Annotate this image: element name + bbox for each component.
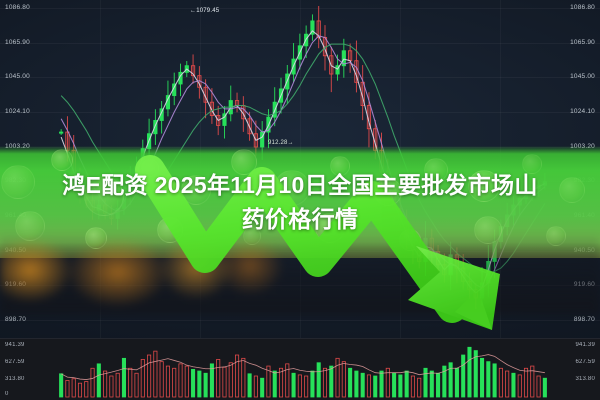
volume-bar	[110, 376, 113, 397]
volume-bar	[191, 369, 194, 397]
volume-bar	[355, 371, 358, 397]
price-tick-label: 1086.80	[5, 4, 30, 11]
volume-bar	[348, 368, 351, 397]
volume-bar	[411, 376, 414, 397]
price-tick-label: 919.60	[5, 281, 26, 288]
volume-bar	[330, 366, 333, 397]
volume-bar	[242, 358, 245, 397]
candlestick-plot	[0, 0, 600, 338]
volume-bar	[380, 371, 383, 397]
volume-bar	[248, 374, 251, 397]
price-tick-label: 1086.80	[570, 4, 595, 11]
volume-bar	[323, 368, 326, 397]
volume-tick-label: 313.80	[575, 376, 595, 382]
price-tick-label: 1045.00	[5, 73, 30, 80]
price-tick-label: 1003.20	[570, 143, 595, 150]
volume-ma-line	[61, 355, 545, 380]
ma-line-ma20	[61, 44, 545, 273]
volume-bar	[185, 366, 188, 397]
volume-bar	[60, 374, 63, 397]
chart-screenshot: 1086.801065.901045.001024.101003.20982.3…	[0, 0, 600, 400]
volume-bar	[418, 378, 421, 397]
annotation-low-marker: 912.28→	[268, 140, 294, 146]
volume-bar	[229, 363, 232, 397]
volume-bar	[166, 366, 169, 397]
volume-tick-label: 627.59	[575, 359, 595, 365]
volume-bar	[524, 368, 527, 397]
volume-bar	[342, 362, 345, 397]
volume-bar	[135, 373, 138, 397]
volume-bars-plot	[0, 339, 600, 400]
volume-bar	[204, 373, 207, 397]
volume-bar	[261, 378, 264, 397]
volume-tick-label: 627.59	[5, 359, 25, 365]
volume-bar	[506, 371, 509, 397]
volume-bar	[273, 371, 276, 397]
ma-line-ma5	[61, 31, 545, 293]
volume-bar	[317, 363, 320, 397]
volume-bar	[254, 376, 257, 397]
price-tick-label: 982.30	[574, 177, 595, 184]
volume-chart-panel: 941.39627.59313.800 941.39627.59313.80	[0, 338, 600, 400]
volume-bar	[311, 371, 314, 397]
price-tick-label: 898.70	[5, 316, 26, 323]
volume-bar	[198, 371, 201, 397]
volume-bar	[430, 371, 433, 397]
volume-bar	[66, 380, 69, 397]
volume-bar	[305, 376, 308, 397]
volume-bar	[405, 371, 408, 397]
volume-bar	[223, 367, 226, 397]
price-tick-label: 961.40	[5, 212, 26, 219]
volume-bar	[179, 364, 182, 397]
volume-bar	[97, 364, 100, 397]
volume-bar	[85, 382, 88, 397]
volume-bar	[487, 362, 490, 397]
volume-bar	[298, 375, 301, 397]
price-tick-label: 1045.00	[570, 73, 595, 80]
volume-bar	[129, 368, 132, 397]
volume-tick-label: 941.39	[5, 342, 25, 348]
volume-bar	[468, 347, 471, 397]
volume-tick-label: 0	[5, 391, 9, 397]
volume-bar	[160, 362, 163, 397]
volume-bar	[279, 368, 282, 397]
volume-bar	[72, 379, 75, 397]
volume-bar	[103, 371, 106, 397]
price-tick-label: 940.50	[5, 247, 26, 254]
volume-bar	[374, 376, 377, 397]
volume-bar	[286, 364, 289, 397]
volume-bar	[493, 364, 496, 397]
candle-body	[60, 132, 63, 133]
volume-bar	[336, 358, 339, 397]
volume-bar	[173, 368, 176, 397]
volume-bar	[455, 368, 458, 397]
volume-bar	[537, 376, 540, 397]
volume-tick-label: 941.39	[575, 342, 595, 348]
price-chart-panel: 1086.801065.901045.001024.101003.20982.3…	[0, 0, 600, 338]
volume-bar	[392, 373, 395, 397]
price-tick-label: 940.50	[574, 247, 595, 254]
volume-bar	[147, 355, 150, 397]
ma-line-ma10	[61, 36, 545, 288]
price-tick-label: 1003.20	[5, 143, 30, 150]
volume-bar	[367, 375, 370, 397]
volume-bar	[480, 358, 483, 397]
volume-bar	[462, 355, 465, 397]
price-tick-label: 1065.90	[570, 39, 595, 46]
volume-bar	[217, 359, 220, 397]
volume-bar	[91, 368, 94, 397]
volume-bar	[292, 373, 295, 397]
volume-bar	[436, 373, 439, 397]
annotation-high-marker: ←1079.45	[190, 8, 219, 14]
price-tick-label: 961.40	[574, 212, 595, 219]
price-tick-label: 1024.10	[5, 108, 30, 115]
volume-bar	[399, 375, 402, 397]
volume-bar	[122, 358, 125, 397]
volume-bar	[424, 368, 427, 397]
volume-bar	[361, 373, 364, 397]
price-tick-label: 1024.10	[570, 108, 595, 115]
volume-bar	[499, 368, 502, 397]
volume-bar	[543, 378, 546, 397]
volume-tick-label: 313.80	[5, 376, 25, 382]
price-tick-label: 919.60	[574, 281, 595, 288]
volume-bar	[512, 373, 515, 397]
volume-bar	[141, 359, 144, 397]
volume-bar	[78, 383, 81, 397]
volume-bar	[154, 351, 157, 397]
price-tick-label: 982.30	[5, 177, 26, 184]
volume-bar	[116, 373, 119, 397]
price-tick-label: 1065.90	[5, 39, 30, 46]
price-tick-label: 898.70	[574, 316, 595, 323]
volume-bar	[518, 375, 521, 397]
